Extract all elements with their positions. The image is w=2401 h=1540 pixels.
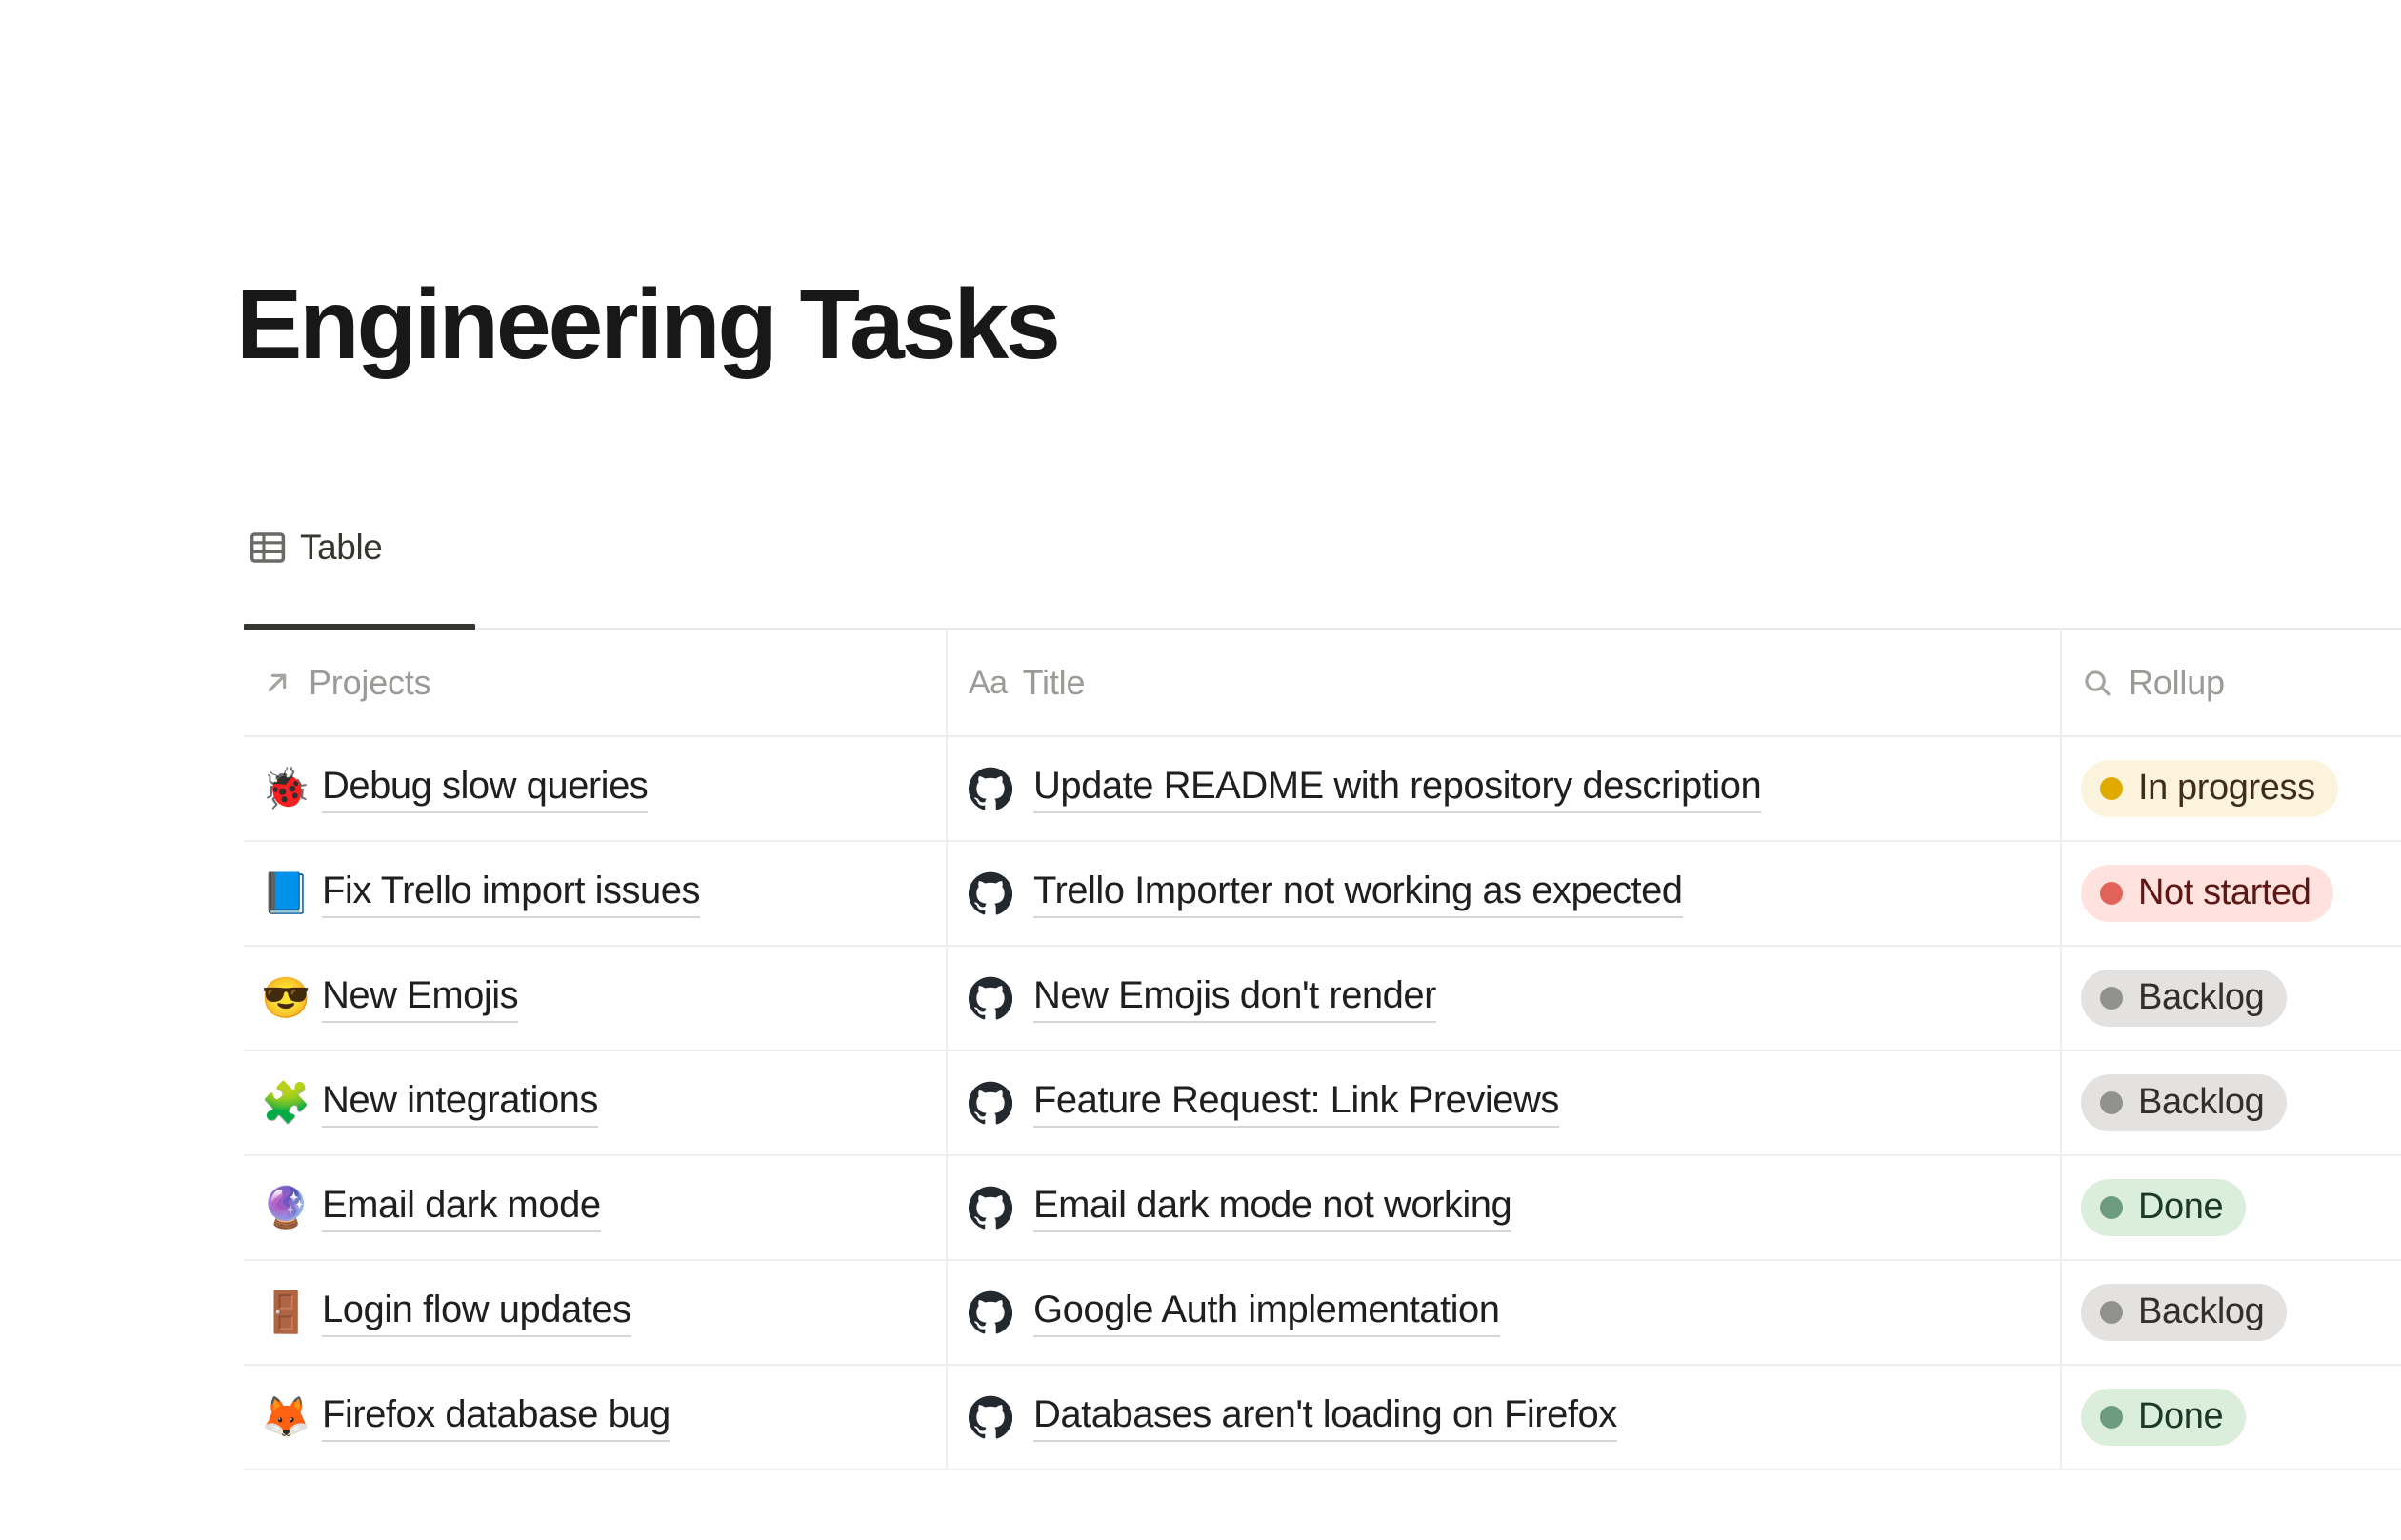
tab-rail-divider [244, 628, 2401, 630]
issue-title-link[interactable]: Trello Importer not working as expected [1033, 869, 1683, 918]
project-relation-link[interactable]: Debug slow queries [322, 764, 648, 813]
status-dot-icon [2100, 1406, 2123, 1429]
puzzle-piece-emoji: 🧩 [261, 1083, 305, 1123]
project-relation-link[interactable]: Login flow updates [322, 1288, 631, 1337]
github-icon [969, 767, 1014, 810]
github-icon [969, 1186, 1014, 1230]
status-badge: Not started [2081, 865, 2333, 923]
project-relation-link[interactable]: New Emojis [322, 973, 518, 1023]
cell-projects[interactable]: 🚪 Login flow updates [244, 1261, 948, 1364]
column-header-rollup-label: Rollup [2129, 663, 2225, 703]
crystal-ball-emoji: 🔮 [261, 1188, 305, 1228]
table-row[interactable]: 🧩 New integrations Feature Request: Link… [244, 1051, 2401, 1156]
table-row[interactable]: 😎 New Emojis New Emojis don't render Bac… [244, 947, 2401, 1051]
project-relation-link[interactable]: Email dark mode [322, 1183, 601, 1232]
status-badge: Done [2081, 1389, 2246, 1447]
status-dot-icon [2100, 987, 2123, 1010]
status-badge: Backlog [2081, 1284, 2287, 1342]
cell-rollup[interactable]: Done [2062, 1156, 2399, 1259]
status-badge-label: Backlog [2138, 1291, 2264, 1333]
github-icon [969, 1290, 1014, 1334]
column-header-projects-label: Projects [309, 663, 430, 703]
cell-title[interactable]: Trello Importer not working as expected [948, 842, 2062, 945]
status-dot-icon [2100, 1091, 2123, 1114]
relation-arrow-icon [261, 667, 293, 699]
cell-rollup[interactable]: Backlog [2062, 1051, 2399, 1154]
status-badge-label: In progress [2138, 768, 2315, 810]
lady-beetle-emoji: 🐞 [261, 769, 305, 809]
status-badge-label: Not started [2138, 872, 2311, 914]
column-header-title-label: Title [1023, 663, 1086, 703]
blue-book-emoji: 📘 [261, 873, 305, 913]
tab-active-indicator [244, 624, 475, 630]
cell-title[interactable]: Databases aren't loading on Firefox [948, 1366, 2062, 1469]
table-row[interactable]: 📘 Fix Trello import issues Trello Import… [244, 842, 2401, 947]
column-header-title[interactable]: Aa Title [948, 630, 2062, 735]
github-icon [969, 1081, 1014, 1125]
table-row[interactable]: 🦊 Firefox database bug Databases aren't … [244, 1366, 2401, 1470]
issue-title-link[interactable]: Databases aren't loading on Firefox [1033, 1392, 1617, 1442]
sunglasses-face-emoji: 😎 [261, 978, 305, 1018]
title-aa-icon: Aa [969, 665, 1008, 702]
status-dot-icon [2100, 882, 2123, 905]
github-icon [969, 976, 1014, 1020]
status-badge-label: Done [2138, 1396, 2223, 1438]
status-dot-icon [2100, 1301, 2123, 1324]
status-badge-label: Backlog [2138, 977, 2264, 1019]
cell-title[interactable]: New Emojis don't render [948, 947, 2062, 1050]
database-table: Projects Aa Title Rollup [244, 630, 2401, 1470]
cell-title[interactable]: Feature Request: Link Previews [948, 1051, 2062, 1154]
cell-projects[interactable]: 📘 Fix Trello import issues [244, 842, 948, 945]
issue-title-link[interactable]: Update README with repository descriptio… [1033, 764, 1761, 813]
cell-projects[interactable]: 🦊 Firefox database bug [244, 1366, 948, 1469]
project-relation-link[interactable]: New integrations [322, 1078, 598, 1128]
cell-title[interactable]: Google Auth implementation [948, 1261, 2062, 1364]
issue-title-link[interactable]: Feature Request: Link Previews [1033, 1078, 1559, 1128]
status-badge: Done [2081, 1179, 2246, 1237]
status-dot-icon [2100, 777, 2123, 800]
issue-title-link[interactable]: Google Auth implementation [1033, 1288, 1500, 1337]
cell-rollup[interactable]: Backlog [2062, 1261, 2399, 1364]
rollup-magnifier-icon [2081, 667, 2113, 699]
cell-rollup[interactable]: Not started [2062, 842, 2399, 945]
table-grid-icon [250, 530, 286, 566]
cell-rollup[interactable]: In progress [2062, 737, 2399, 840]
door-emoji: 🚪 [261, 1292, 305, 1332]
status-badge: Backlog [2081, 1074, 2287, 1132]
cell-projects[interactable]: 🐞 Debug slow queries [244, 737, 948, 840]
project-relation-link[interactable]: Fix Trello import issues [322, 869, 700, 918]
table-row[interactable]: 🔮 Email dark mode Email dark mode not wo… [244, 1156, 2401, 1261]
status-badge-label: Backlog [2138, 1082, 2264, 1124]
view-tab-bar: Table [244, 522, 395, 589]
github-icon [969, 871, 1014, 915]
status-badge-label: Done [2138, 1187, 2223, 1229]
cell-rollup[interactable]: Done [2062, 1366, 2399, 1469]
page-title: Engineering Tasks [236, 270, 1058, 380]
cell-title[interactable]: Email dark mode not working [948, 1156, 2062, 1259]
column-header-rollup[interactable]: Rollup [2062, 630, 2399, 735]
table-header-row: Projects Aa Title Rollup [244, 630, 2401, 737]
github-icon [969, 1395, 1014, 1439]
tab-table-label: Table [300, 528, 382, 568]
status-badge: In progress [2081, 760, 2338, 818]
tab-table[interactable]: Table [244, 522, 395, 589]
issue-title-link[interactable]: Email dark mode not working [1033, 1183, 1511, 1232]
table-row[interactable]: 🚪 Login flow updates Google Auth impleme… [244, 1261, 2401, 1366]
cell-projects[interactable]: 🔮 Email dark mode [244, 1156, 948, 1259]
cell-projects[interactable]: 🧩 New integrations [244, 1051, 948, 1154]
column-header-projects[interactable]: Projects [244, 630, 948, 735]
project-relation-link[interactable]: Firefox database bug [322, 1392, 670, 1442]
status-dot-icon [2100, 1196, 2123, 1219]
cell-rollup[interactable]: Backlog [2062, 947, 2399, 1050]
notion-database-page: Engineering Tasks Table [0, 0, 2401, 1540]
fox-emoji: 🦊 [261, 1397, 305, 1437]
cell-title[interactable]: Update README with repository descriptio… [948, 737, 2062, 840]
table-row[interactable]: 🐞 Debug slow queries Update README with … [244, 737, 2401, 842]
status-badge: Backlog [2081, 970, 2287, 1028]
issue-title-link[interactable]: New Emojis don't render [1033, 973, 1436, 1023]
cell-projects[interactable]: 😎 New Emojis [244, 947, 948, 1050]
